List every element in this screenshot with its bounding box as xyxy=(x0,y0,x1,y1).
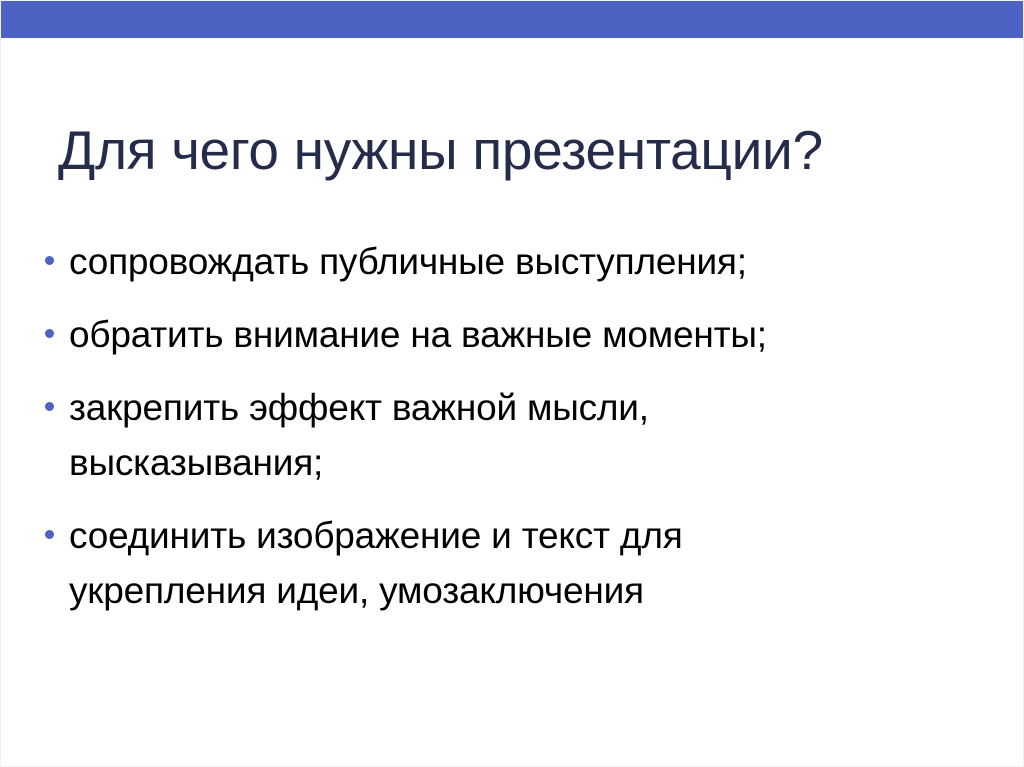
list-item: сопровождать публичные выступления; xyxy=(43,234,943,289)
bullet-point-icon xyxy=(45,530,54,539)
list-item: закрепить эффект важной мысли, высказыва… xyxy=(43,380,943,490)
list-item-text: обратить внимание на важные моменты; xyxy=(69,307,929,362)
list-item-text: закрепить эффект важной мысли, высказыва… xyxy=(69,380,769,490)
slide-bullet-list: сопровождать публичные выступления; обра… xyxy=(43,234,943,618)
bullet-point-icon xyxy=(45,402,54,411)
presentation-slide: Для чего нужны презентации? сопровождать… xyxy=(0,0,1024,767)
list-item: обратить внимание на важные моменты; xyxy=(43,307,943,362)
bullet-point-icon xyxy=(45,329,54,338)
list-item-text: сопровождать публичные выступления; xyxy=(69,234,929,289)
top-accent-bar xyxy=(1,1,1024,38)
list-item: соединить изображение и текст для укрепл… xyxy=(43,508,943,618)
bullet-point-icon xyxy=(45,256,54,265)
list-item-text: соединить изображение и текст для укрепл… xyxy=(69,508,769,618)
slide-title: Для чего нужны презентации? xyxy=(58,120,978,180)
